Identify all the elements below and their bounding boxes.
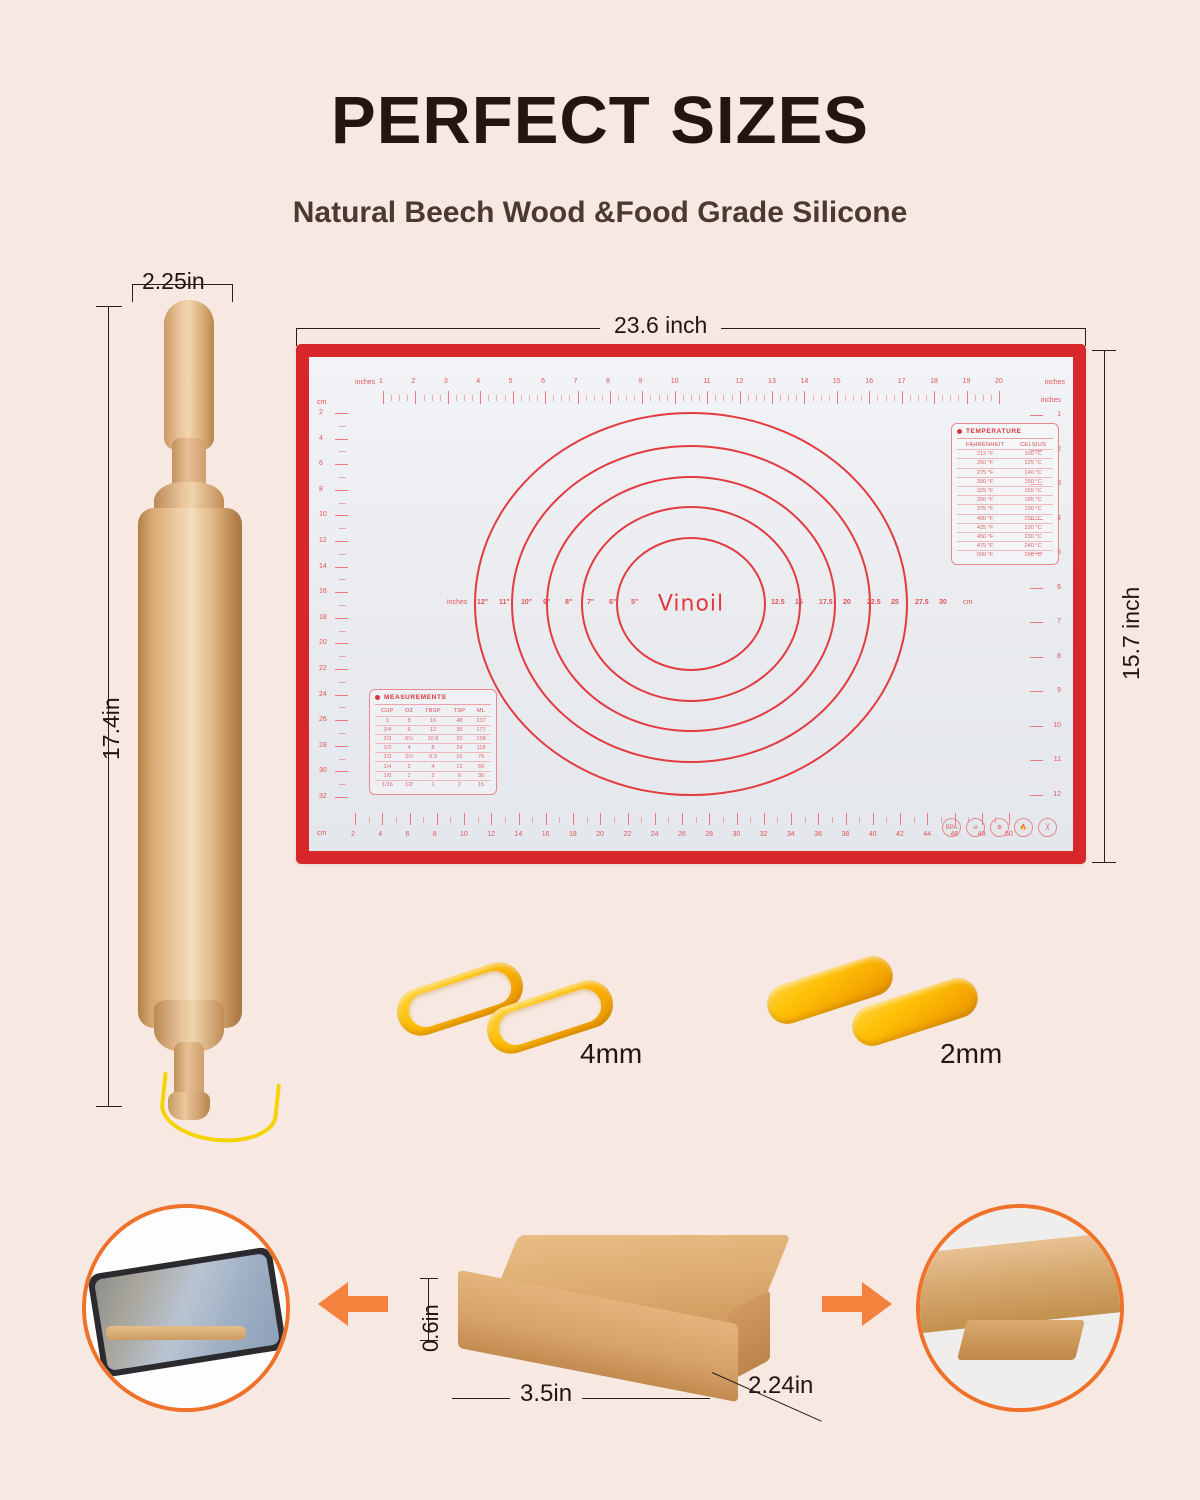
left-ruler-minor-tick [339,554,346,555]
top-ruler-label: 19 [963,378,971,385]
stand-height-tick-top [420,1278,438,1279]
left-ruler-label: 30 [319,767,327,774]
stand-in-photo [106,1326,246,1340]
top-ruler-minor-tick [788,395,789,401]
measurements-cell: 177 [471,725,491,734]
left-ruler-label: 18 [319,614,327,621]
left-ruler-tick [335,413,348,414]
measurements-cell: 15 [471,780,491,789]
center-scale-left-label: 5" [631,599,638,606]
top-ruler-label: 11 [703,378,710,385]
mat-surface: Vinoil 1234567891011121314151617181920 i… [309,357,1073,851]
bottom-ruler-minor-tick [587,817,588,823]
top-ruler-tick [448,391,449,404]
bottom-ruler-label: 44 [923,831,931,838]
temperature-cell: 450 °F [957,532,1013,541]
bottom-ruler-label: 22 [624,831,632,838]
top-ruler-minor-tick [732,395,733,401]
measurements-cell: 1 [375,716,400,725]
left-ruler-label: 12 [319,537,327,544]
left-ruler-minor-tick [339,426,346,427]
center-scale-left-label: 8" [565,599,572,606]
bottom-ruler-tick [791,813,792,825]
top-ruler-minor-tick [691,395,692,401]
top-ruler-tick [383,391,384,404]
bpa-free-icon: BPA [942,818,961,837]
center-scale-right-label: 20 [843,599,851,606]
temperature-row: 212 °F100 °C [957,450,1053,459]
top-ruler-minor-tick [780,395,781,401]
measurements-cell: 8 [418,744,447,753]
arrow-right [822,1282,892,1326]
bottom-ruler-label: 18 [569,831,577,838]
bottom-ruler-tick [437,813,438,825]
bottom-ruler-label: 4 [378,831,382,838]
bottom-ruler-label: 16 [542,831,550,838]
measurements-cell: 12 [448,762,471,771]
right-ruler-tick [1030,657,1043,658]
measurements-table-grid: CUPOZTBSPTSPML 1816482373/4612361772/35¼… [375,707,491,789]
top-ruler-tick [578,391,579,404]
measurements-row: 2/35¼10.832158 [375,734,491,743]
measurements-cell: 32 [448,734,471,743]
measurements-row: 3/461236177 [375,725,491,734]
band-label-4mm: 4mm [580,1038,642,1070]
measurements-table-title-row: MEASUREMENTS [375,694,491,705]
temperature-cell: 350 °F [957,496,1013,505]
bottom-ruler-minor-tick [369,817,370,823]
top-ruler-minor-tick [910,395,911,401]
bottom-ruler-minor-tick [423,817,424,823]
bottom-ruler-minor-tick [723,817,724,823]
no-knife-icon: ╳ [1038,818,1057,837]
temperature-row: 375 °F190 °C [957,505,1053,514]
measurements-body: 1816482373/4612361772/35¼10.8321581/2482… [375,716,491,789]
left-ruler-tick [335,771,348,772]
measurements-bullet-icon [375,695,380,700]
temperature-cell: 140 °C [1013,468,1053,477]
right-ruler-tick [1030,726,1043,727]
measurements-row: 1/32⅔5.31679 [375,753,491,762]
measurements-cell: 118 [471,744,491,753]
measurements-col-0: CUP [375,707,400,716]
top-ruler-label: 13 [768,378,776,385]
top-ruler-unit-left: inches [355,379,375,386]
bottom-ruler-minor-tick [505,817,506,823]
bottom-ruler-tick [682,813,683,825]
bottom-ruler-tick [410,813,411,825]
temperature-row: 325 °F165 °C [957,486,1053,495]
measurements-cell: 2 [448,780,471,789]
center-scale-right-label: 12.5 [771,599,785,606]
mat-width-tick-left [296,328,297,346]
mat-brand-logo: Vinoil [658,592,724,617]
bottom-ruler-tick [709,813,710,825]
bottom-ruler-label: 2 [351,831,355,838]
bottom-ruler-label: 14 [515,831,523,838]
bottom-ruler-tick [846,813,847,825]
top-ruler-minor-tick [821,395,822,401]
bottom-ruler-tick [764,813,765,825]
left-ruler-minor-tick [339,656,346,657]
right-ruler-tick [1030,691,1043,692]
bottom-ruler-minor-tick [450,817,451,823]
top-ruler-minor-tick [667,395,668,401]
arrow-left-shaft [342,1296,388,1312]
top-ruler-minor-tick [561,395,562,401]
bottom-ruler-minor-tick [805,817,806,823]
arrow-right-head [862,1282,892,1326]
top-ruler-minor-tick [861,395,862,401]
left-ruler-label: 4 [319,435,323,442]
left-ruler-label: 24 [319,691,327,698]
left-ruler-minor-tick [339,477,346,478]
center-scale-left-label: 12" [477,599,488,606]
food-safe-icon: ☠ [966,818,985,837]
measurements-cell: 10.8 [418,734,447,743]
left-ruler-label: 14 [319,563,327,570]
left-ruler-label: 2 [319,409,323,416]
temperature-cell: 165 °C [1013,486,1053,495]
center-scale-left-label: 6" [609,599,616,606]
temperature-bullet-icon [957,429,962,434]
top-ruler-minor-tick [594,395,595,401]
top-ruler-tick [999,391,1000,404]
top-ruler-label: 16 [865,378,873,385]
bottom-ruler-tick [900,813,901,825]
measurements-cell: 4 [418,762,447,771]
temperature-row: 400 °F200 °C [957,514,1053,523]
mat-care-icon-row: BPA ☠ ⚙ 🔥 ╳ [942,818,1057,837]
right-ruler-label: 11 [1054,756,1061,763]
mat-height-dim-line [1104,350,1105,862]
temperature-row: 350 °F185 °C [957,496,1053,505]
temperature-cell: 240 °C [1013,542,1053,551]
temperature-row: 425 °F220 °C [957,523,1053,532]
top-ruler-minor-tick [634,395,635,401]
bottom-ruler-minor-tick [859,817,860,823]
mat-height-label: 15.7 inch [1118,587,1145,680]
measurements-cell: 1/2 [375,744,400,753]
right-ruler-tick [1030,795,1043,796]
top-ruler-minor-tick [569,395,570,401]
temperature-body: 212 °F100 °C250 °F125 °C275 °F140 °C300 … [957,450,1053,560]
stand-in-right-photo [957,1320,1085,1360]
temperature-cell: 125 °C [1013,459,1053,468]
top-ruler-label: 6 [541,378,545,385]
bottom-ruler-minor-tick [696,817,697,823]
top-ruler-label: 12 [736,378,744,385]
top-ruler-tick [545,391,546,404]
pin-body [138,508,242,1028]
bottom-ruler-label: 24 [651,831,659,838]
left-ruler-tick [335,746,348,747]
left-ruler-tick [335,541,348,542]
right-ruler-tick [1030,760,1043,761]
top-ruler-minor-tick [586,395,587,401]
center-scale-right-label: 22.5 [867,599,881,606]
mat-height-tick-bottom [1092,862,1116,863]
measurements-cell: 2/3 [375,734,400,743]
top-ruler-label: 1 [379,378,383,385]
bottom-ruler-tick [873,813,874,825]
mat-width-tick-right [1085,328,1086,346]
top-ruler-minor-tick [796,395,797,401]
temperature-table-grid: FAHRENHEITCELSIUS 212 °F100 °C250 °F125 … [957,441,1053,559]
bottom-ruler-tick [382,813,383,825]
silicone-baking-mat: Vinoil 1234567891011121314151617181920 i… [296,344,1086,864]
measurements-col-4: ML [471,707,491,716]
bottom-ruler-label: 38 [842,831,850,838]
left-ruler-minor-tick [339,631,346,632]
top-ruler-minor-tick [975,395,976,401]
top-ruler-label: 9 [638,378,642,385]
measurements-col-3: TSP [448,707,471,716]
right-ruler-label: 12 [1053,791,1061,798]
center-scale-left-label: 11" [499,599,510,606]
measurements-row: 1/161/21215 [375,780,491,789]
left-ruler-tick [335,643,348,644]
top-ruler-tick [772,391,773,404]
heat-resistant-icon: 🔥 [1014,818,1033,837]
dishwasher-safe-icon: ⚙ [990,818,1009,837]
temperature-cell: 375 °F [957,505,1013,514]
top-ruler-tick [934,391,935,404]
measurements-cell: 5.3 [418,753,447,762]
measurements-cell: 8 [400,716,418,725]
measurements-cell: 1/4 [375,762,400,771]
temperature-cell: 220 °C [1013,523,1053,532]
top-ruler-minor-tick [918,395,919,401]
measurements-cell: 79 [471,753,491,762]
mat-width-label: 23.6 inch [600,312,721,339]
center-scale-right-label: 15 [795,599,803,606]
left-ruler-tick [335,720,348,721]
measurements-row: 1/24824118 [375,744,491,753]
bottom-ruler-minor-tick [641,817,642,823]
top-ruler-minor-tick [602,395,603,401]
bottom-ruler-tick [600,813,601,825]
bottom-ruler-tick [355,813,356,825]
top-ruler-minor-tick [723,395,724,401]
top-ruler-minor-tick [950,395,951,401]
bottom-ruler-label: 26 [678,831,686,838]
bottom-ruler-minor-tick [478,817,479,823]
bottom-ruler-minor-tick [532,817,533,823]
center-scale-right-unit: cm [963,599,972,606]
right-ruler-label: 6 [1057,584,1061,591]
bottom-ruler-label: 6 [406,831,410,838]
top-ruler-minor-tick [618,395,619,401]
rolling-pin-in-photo [916,1229,1124,1335]
measurements-cell: 16 [448,753,471,762]
left-ruler-tick [335,695,348,696]
left-ruler-tick [335,490,348,491]
measurements-cell: 6 [400,725,418,734]
top-ruler-minor-tick [464,395,465,401]
bottom-ruler-tick [737,813,738,825]
bottom-ruler-tick [818,813,819,825]
bottom-ruler-label: 34 [787,831,795,838]
top-ruler-minor-tick [894,395,895,401]
left-ruler-label: 28 [319,742,327,749]
bottom-ruler-label: 40 [869,831,877,838]
top-ruler-minor-tick [886,395,887,401]
left-ruler-label: 20 [319,639,327,646]
center-scale-right-label: 30 [939,599,947,606]
page-title: PERFECT SIZES [0,82,1200,159]
right-ruler-tick [1030,415,1043,416]
left-ruler-tick [335,439,348,440]
temperature-col-0: FAHRENHEIT [957,441,1013,450]
left-ruler-label: 32 [319,793,327,800]
top-ruler-tick [902,391,903,404]
measurements-cell: 1/2 [400,780,418,789]
temperature-row: 475 °F240 °C [957,542,1053,551]
top-ruler-minor-tick [488,395,489,401]
temperature-cell: 190 °C [1013,505,1053,514]
measurements-cell: 1/16 [375,780,400,789]
bottom-ruler-minor-tick [914,817,915,823]
arrow-left [318,1282,388,1326]
bottom-ruler-label: 42 [896,831,904,838]
top-ruler-minor-tick [505,395,506,401]
bottom-ruler-label: 30 [733,831,741,838]
top-ruler-tick [740,391,741,404]
stand-depth-label: 2.24in [748,1372,813,1400]
top-ruler-label: 4 [476,378,480,385]
top-ruler-minor-tick [829,395,830,401]
temperature-cell: 250 °F [957,459,1013,468]
right-ruler-unit: inches [1045,379,1065,386]
temperature-row: 250 °F125 °C [957,459,1053,468]
top-ruler-tick [837,391,838,404]
bottom-ruler-minor-tick [668,817,669,823]
left-ruler-minor-tick [339,707,346,708]
bottom-ruler-minor-tick [559,817,560,823]
bottom-ruler-tick [655,813,656,825]
left-ruler-tick [335,567,348,568]
top-ruler-label: 5 [509,378,513,385]
top-ruler-minor-tick [432,395,433,401]
bottom-ruler-minor-tick [396,817,397,823]
right-ruler-tick [1030,588,1043,589]
top-ruler-label: 7 [574,378,578,385]
right-ruler-label: 1 [1057,411,1061,418]
top-ruler-minor-tick [699,395,700,401]
bottom-ruler-minor-tick [832,817,833,823]
top-ruler-minor-tick [983,395,984,401]
temperature-cell: 230 °C [1013,532,1053,541]
temperature-row: 450 °F230 °C [957,532,1053,541]
right-ruler-label: 10 [1053,722,1061,729]
measurements-cell: 59 [471,762,491,771]
left-ruler-tick [335,592,348,593]
top-ruler-minor-tick [496,395,497,401]
bottom-ruler-tick [491,813,492,825]
top-ruler-tick [415,391,416,404]
top-ruler-minor-tick [764,395,765,401]
measurements-cell: 158 [471,734,491,743]
top-ruler-tick [480,391,481,404]
center-scale-left-label: 7" [587,599,594,606]
temperature-header-row: FAHRENHEITCELSIUS [957,441,1053,450]
top-ruler-minor-tick [472,395,473,401]
left-ruler-label: 8 [319,486,323,493]
measurements-cell: 2 [400,762,418,771]
pin-length-tick-bottom [96,1106,122,1107]
measurements-row: 1/4241259 [375,762,491,771]
infographic-canvas: PERFECT SIZES Natural Beech Wood &Food G… [0,0,1200,1500]
top-ruler-minor-tick [926,395,927,401]
left-ruler-minor-tick [339,682,346,683]
top-ruler-tick [869,391,870,404]
measurements-cell: 12 [418,725,447,734]
top-ruler-tick [675,391,676,404]
temperature-cell: 185 °C [1013,496,1053,505]
left-ruler-minor-tick [339,759,346,760]
measurements-cell: 2⅔ [400,753,418,762]
top-ruler-minor-tick [813,395,814,401]
pin-length-tick-top [96,306,122,307]
top-ruler-minor-tick [391,395,392,401]
temperature-table: TEMPERATURE FAHRENHEITCELSIUS 212 °F100 … [951,423,1059,565]
bottom-ruler-label: 36 [814,831,822,838]
top-ruler-tick [610,391,611,404]
top-ruler-minor-tick [399,395,400,401]
top-ruler-minor-tick [845,395,846,401]
left-ruler-label: 26 [319,716,327,723]
measurements-cell: 6 [448,771,471,780]
left-ruler-label: 22 [319,665,327,672]
measurements-col-1: OZ [400,707,418,716]
pin-width-label: 2.25in [142,268,205,295]
top-ruler-tick [804,391,805,404]
measurements-row: 181648237 [375,716,491,725]
center-scale-right-label: 27.5 [915,599,929,606]
temperature-cell: 500 °F [957,551,1013,560]
top-ruler-label: 3 [444,378,448,385]
top-ruler-minor-tick [650,395,651,401]
top-ruler-minor-tick [407,395,408,401]
top-ruler-tick [967,391,968,404]
measurements-col-2: TBSP [418,707,447,716]
bottom-ruler-label: 12 [487,831,495,838]
temperature-cell: 475 °F [957,542,1013,551]
left-ruler-tick [335,515,348,516]
temperature-cell: 400 °F [957,514,1013,523]
bottom-ruler-tick [927,813,928,825]
top-ruler-label: 8 [606,378,610,385]
page-subtitle: Natural Beech Wood &Food Grade Silicone [0,196,1200,230]
top-ruler-minor-tick [748,395,749,401]
left-ruler-minor-tick [339,503,346,504]
temperature-cell: 425 °F [957,523,1013,532]
top-ruler-minor-tick [659,395,660,401]
measurements-cell: 237 [471,716,491,725]
top-ruler-unit-right: inches [1041,397,1061,404]
temperature-cell: 275 °F [957,468,1013,477]
center-scale-left-label: 9" [543,599,550,606]
top-ruler-minor-tick [626,395,627,401]
measurements-cell: 1 [418,780,447,789]
bottom-ruler-label: 20 [596,831,604,838]
top-ruler-tick [707,391,708,404]
center-scale-right-label: 17.5 [819,599,833,606]
measurements-header-row: CUPOZTBSPTSPML [375,707,491,716]
top-ruler-minor-tick [424,395,425,401]
top-ruler-corner-unit: cm [317,399,326,406]
